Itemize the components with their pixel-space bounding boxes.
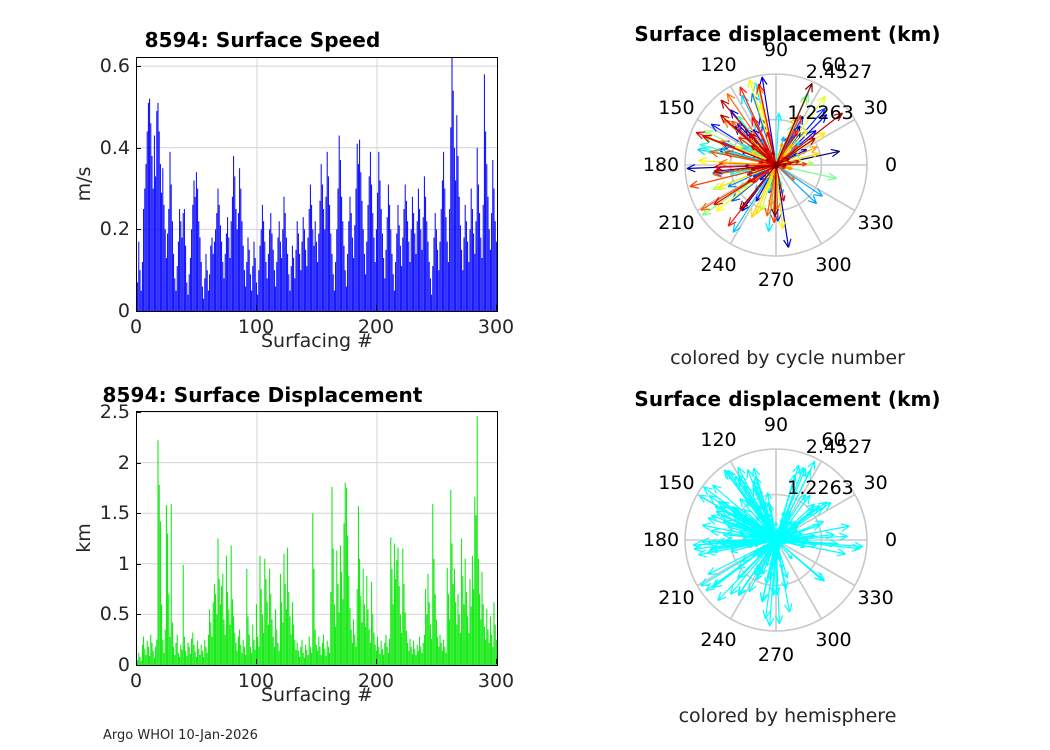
x-axis-label-surface-displacement: Surfacing # (136, 684, 498, 706)
polar-r-label: 1.2263 (787, 477, 853, 499)
polar-theta-label-240: 240 (700, 629, 736, 651)
x-tick-mark (496, 305, 497, 310)
x-tick-mark (376, 659, 377, 664)
figure-footer: Argo WHOI 10-Jan-2026 (103, 728, 258, 743)
panel-polar-cycle-number: Surface displacement (km) 03060901201501… (525, 0, 1050, 375)
panel-surface-speed: 8594: Surface Speed 00.20.40.6 010020030… (0, 0, 525, 375)
x-tick-mark (376, 305, 377, 310)
y-tick-label: 1 (88, 553, 130, 575)
y-tick-mark (136, 564, 141, 565)
y-tick-mark (136, 614, 141, 615)
polar-theta-label-150: 150 (658, 97, 694, 119)
y-tick-label: 1.5 (88, 502, 130, 524)
y-tick-label: 0 (88, 654, 130, 676)
y-tick-mark (136, 148, 141, 149)
chart-title-surface-displacement: 8594: Surface Displacement (0, 383, 525, 407)
polar-theta-label-330: 330 (857, 212, 893, 234)
x-tick-mark (496, 659, 497, 664)
y-tick-mark (136, 66, 141, 67)
polar-theta-label-0: 0 (885, 154, 897, 176)
polar-theta-label-300: 300 (815, 629, 851, 651)
polar-theta-label-90: 90 (764, 414, 788, 436)
x-tick-mark (136, 305, 137, 310)
bar-series-surface-speed (137, 58, 497, 311)
x-tick-mark (256, 659, 257, 664)
polar-theta-label-150: 150 (658, 472, 694, 494)
bar-series-surface-displacement (137, 412, 497, 665)
y-tick-label: 2.5 (88, 401, 130, 423)
polar-theta-label-300: 300 (815, 254, 851, 276)
y-tick-label: 0 (88, 300, 130, 322)
panel-polar-hemisphere: Surface displacement (km) 03060901201501… (525, 375, 1050, 750)
axes-surface-displacement (136, 411, 498, 666)
y-axis-label-surface-displacement: km (73, 523, 95, 553)
polar-theta-label-30: 30 (863, 97, 887, 119)
y-tick-mark (136, 463, 141, 464)
y-tick-label: 0.4 (88, 137, 130, 159)
polar-theta-label-30: 30 (863, 472, 887, 494)
axes-surface-speed (136, 57, 498, 312)
y-tick-label: 0.6 (88, 55, 130, 77)
polar-theta-label-210: 210 (658, 587, 694, 609)
panel-surface-displacement: 8594: Surface Displacement 00.511.522.5 … (0, 375, 525, 750)
polar-r-label: 2.4527 (806, 61, 872, 83)
polar-theta-label-0: 0 (885, 529, 897, 551)
polar-theta-label-120: 120 (700, 429, 736, 451)
polar-theta-label-270: 270 (758, 644, 794, 666)
y-tick-label: 0.5 (88, 603, 130, 625)
y-tick-label: 2 (88, 452, 130, 474)
polar-theta-label-240: 240 (700, 254, 736, 276)
polar-r-label: 2.4527 (806, 436, 872, 458)
polar-theta-label-330: 330 (857, 587, 893, 609)
polar-theta-label-180: 180 (643, 154, 679, 176)
polar-r-label: 1.2263 (787, 102, 853, 124)
caption-polar-hemisphere: colored by hemisphere (525, 705, 1050, 727)
polar-theta-label-90: 90 (764, 39, 788, 61)
polar-theta-label-210: 210 (658, 212, 694, 234)
y-tick-mark (136, 665, 141, 666)
y-axis-label-surface-speed: m/s (73, 167, 95, 202)
y-tick-mark (136, 412, 141, 413)
x-tick-mark (256, 305, 257, 310)
x-axis-label-surface-speed: Surfacing # (136, 330, 498, 352)
x-tick-mark (136, 659, 137, 664)
y-tick-mark (136, 229, 141, 230)
polar-theta-label-180: 180 (643, 529, 679, 551)
y-tick-label: 0.2 (88, 218, 130, 240)
y-tick-mark (136, 513, 141, 514)
polar-theta-label-120: 120 (700, 54, 736, 76)
polar-theta-label-270: 270 (758, 269, 794, 291)
chart-title-surface-speed: 8594: Surface Speed (0, 28, 525, 52)
y-tick-mark (136, 311, 141, 312)
